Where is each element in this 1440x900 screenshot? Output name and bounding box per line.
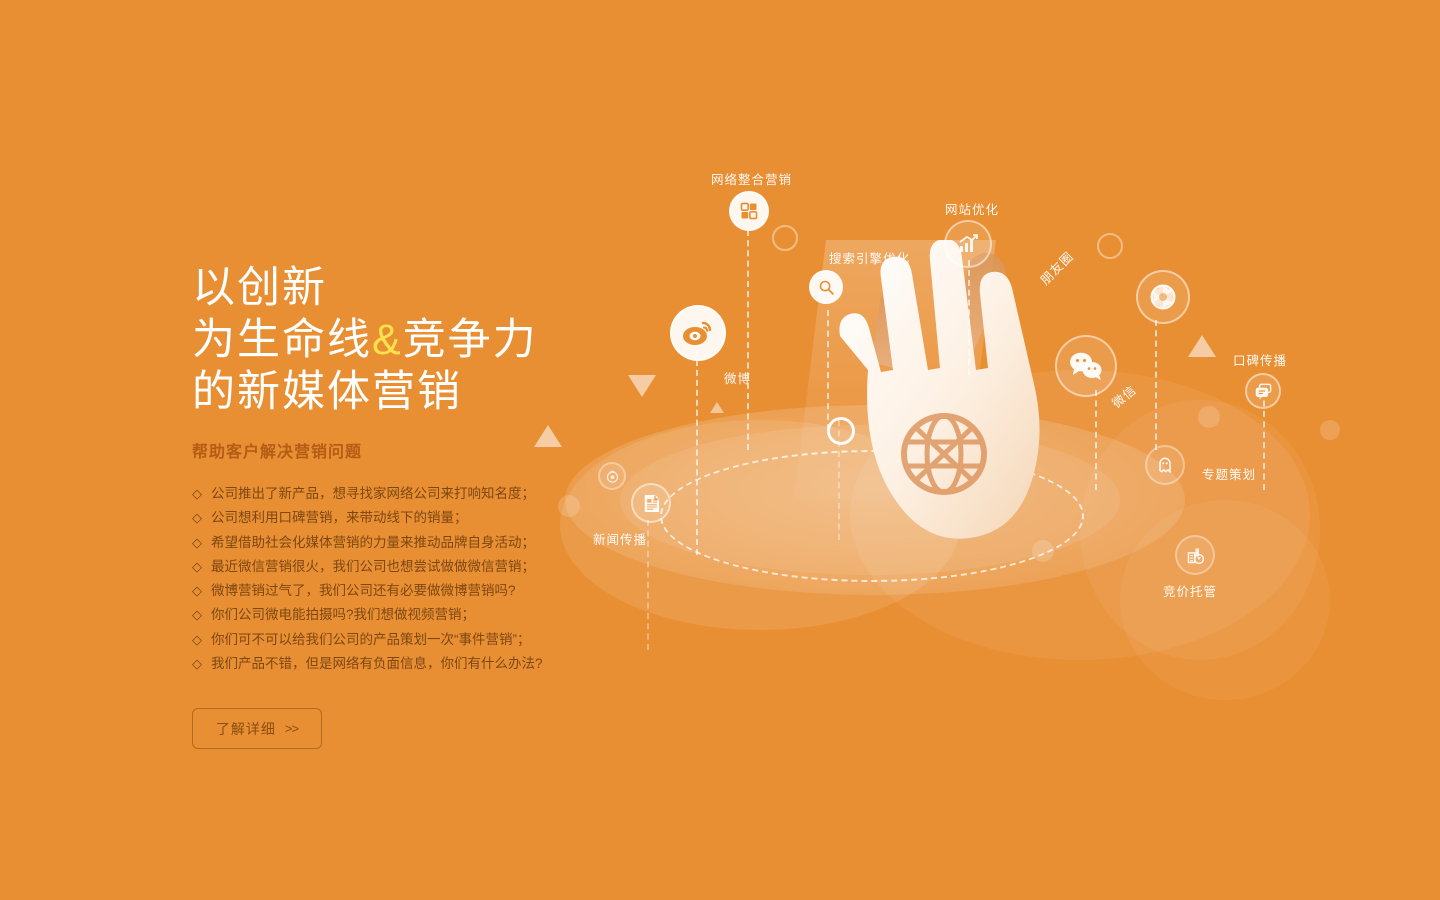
- building-chart-icon: [1185, 545, 1206, 566]
- node-label: 网络整合营销: [711, 169, 792, 188]
- connector-line: [968, 260, 970, 375]
- ring-decor: [1097, 233, 1123, 259]
- connector-line: [696, 350, 698, 555]
- grid-squares-icon: [739, 201, 759, 221]
- list-item-text: 公司想利用口碑营销，来带动线下的销量；: [211, 506, 468, 530]
- node-label: 搜索引擎优化: [829, 248, 910, 267]
- camera-shutter-icon: [1148, 282, 1178, 312]
- ring-decor: [772, 225, 798, 251]
- triangle-small-decor: [710, 402, 724, 413]
- node-label: 口碑传播: [1233, 350, 1287, 369]
- wechat-bubbles-icon: [1068, 351, 1104, 381]
- headline-line-1: 以创新: [192, 262, 612, 314]
- list-item-text: 最近微信营销很火，我们公司也想尝试做做微信营销；: [211, 555, 535, 579]
- page-title: 以创新 为生命线&竞争力 的新媒体营销: [192, 262, 612, 418]
- news-document-icon: [641, 493, 662, 514]
- ghost-badge-icon: [1155, 455, 1175, 475]
- headline-line-2: 为生命线&竞争力: [192, 314, 612, 366]
- dot-decor: [1320, 420, 1340, 440]
- ring-decor: [827, 417, 855, 445]
- node-label: 专题策划: [1202, 464, 1256, 483]
- diamond-bullet-icon: ◇: [192, 482, 202, 506]
- speech-bubbles-icon: [1254, 382, 1273, 401]
- weibo-eye-icon: [682, 320, 714, 347]
- node-label: 朋友圈: [1035, 246, 1077, 288]
- connector-line: [827, 310, 829, 430]
- pain-point-list: ◇公司推出了新产品，想寻找家网络公司来打响知名度； ◇公司想利用口碑营销，来带动…: [192, 482, 612, 676]
- list-item-text: 你们公司微电能拍摄吗?我们想做视频营销；: [211, 603, 475, 627]
- node-label: 网站优化: [945, 199, 999, 218]
- connector-line: [647, 520, 649, 650]
- diamond-bullet-icon: ◇: [192, 506, 202, 530]
- list-item: ◇公司想利用口碑营销，来带动线下的销量；: [192, 506, 612, 530]
- hand-globe-icon: [820, 240, 1040, 570]
- list-item-text: 希望借助社会化媒体营销的力量来推动品牌自身活动；: [211, 531, 535, 555]
- hero-text-column: 以创新 为生命线&竞争力 的新媒体营销 帮助客户解决营销问题 ◇公司推出了新产品…: [192, 262, 612, 749]
- double-chevron-icon: >>: [285, 721, 298, 736]
- diamond-bullet-icon: ◇: [192, 652, 202, 676]
- list-item: ◇最近微信营销很火，我们公司也想尝试做做微信营销；: [192, 555, 612, 579]
- headline-line-3: 的新媒体营销: [192, 366, 612, 418]
- list-item: ◇你们公司微电能拍摄吗?我们想做视频营销；: [192, 603, 612, 627]
- page-subtitle: 帮助客户解决营销问题: [192, 438, 612, 462]
- triangle-down-decor: [628, 375, 656, 397]
- learn-more-button[interactable]: 了解详细 >>: [192, 708, 322, 749]
- marketing-illustration: 网络整合营销 搜索引擎优化 网站优化: [520, 120, 1320, 680]
- diamond-bullet-icon: ◇: [192, 579, 202, 603]
- list-item: ◇微博营销过气了，我们公司还有必要做微博营销吗?: [192, 579, 612, 603]
- list-item: ◇公司推出了新产品，想寻找家网络公司来打响知名度；: [192, 482, 612, 506]
- diamond-bullet-icon: ◇: [192, 628, 202, 652]
- diamond-bullet-icon: ◇: [192, 531, 202, 555]
- dot-decor: [1032, 540, 1054, 562]
- headline-ampersand: &: [372, 316, 403, 364]
- dot-decor: [1198, 406, 1220, 428]
- bar-chart-growth-icon: [956, 232, 980, 256]
- diamond-bullet-icon: ◇: [192, 603, 202, 627]
- node-label: 微博: [724, 368, 751, 387]
- learn-more-label: 了解详细: [216, 719, 276, 739]
- list-item-text: 公司推出了新产品，想寻找家网络公司来打响知名度；: [211, 482, 535, 506]
- list-item-text: 你们可不可以给我们公司的产品策划一次“事件营销”；: [211, 628, 531, 652]
- headline-line-2a: 为生命线: [192, 316, 372, 364]
- list-item: ◇我们产品不错，但是网络有负面信息，你们有什么办法?: [192, 652, 612, 676]
- magnifier-icon: [818, 279, 835, 296]
- headline-line-2b: 竞争力: [403, 316, 538, 364]
- connector-line: [1095, 390, 1097, 490]
- hero-banner: 网络整合营销 搜索引擎优化 网站优化: [0, 0, 1440, 900]
- node-label: 竞价托管: [1163, 581, 1217, 600]
- connector-line: [1155, 320, 1157, 450]
- list-item-text: 我们产品不错，但是网络有负面信息，你们有什么办法?: [211, 652, 543, 676]
- diamond-bullet-icon: ◇: [192, 555, 202, 579]
- list-item: ◇你们可不可以给我们公司的产品策划一次“事件营销”；: [192, 628, 612, 652]
- connector-line: [747, 230, 749, 450]
- list-item-text: 微博营销过气了，我们公司还有必要做微博营销吗?: [211, 579, 516, 603]
- triangle-up-decor: [1188, 335, 1216, 357]
- list-item: ◇希望借助社会化媒体营销的力量来推动品牌自身活动；: [192, 531, 612, 555]
